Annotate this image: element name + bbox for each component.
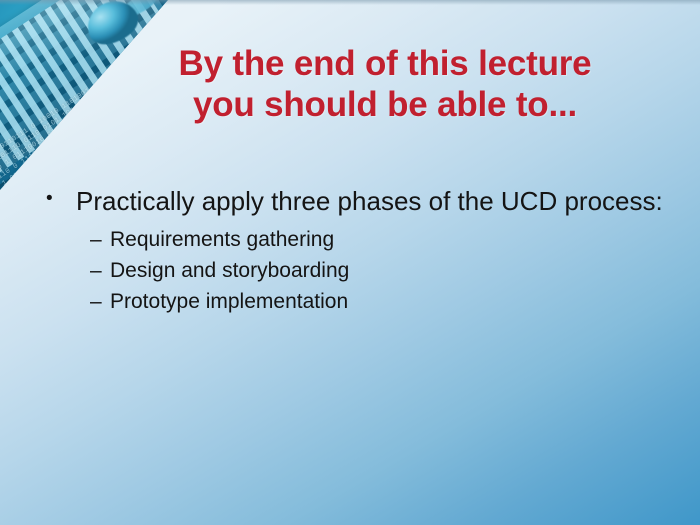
sub-bullet-text: Requirements gathering bbox=[110, 227, 672, 254]
sub-bullet-item: – Design and storyboarding bbox=[90, 258, 672, 285]
dash-marker-icon: – bbox=[90, 258, 110, 285]
slide-title-line-2: you should be able to... bbox=[96, 85, 674, 126]
slide-title-line-1: By the end of this lecture bbox=[96, 44, 674, 85]
slide-canvas: 01001101 0110111 0 10010 1101001 1010 01… bbox=[0, 0, 700, 525]
sub-bullet-item: – Prototype implementation bbox=[90, 289, 672, 316]
sub-bullet-list: – Requirements gathering – Design and st… bbox=[90, 227, 672, 316]
bullet-marker-icon: • bbox=[46, 186, 76, 213]
bullet-item: • Practically apply three phases of the … bbox=[46, 186, 672, 217]
bullet-text: Practically apply three phases of the UC… bbox=[76, 186, 672, 217]
sub-bullet-text: Design and storyboarding bbox=[110, 258, 672, 285]
sub-bullet-item: – Requirements gathering bbox=[90, 227, 672, 254]
dash-marker-icon: – bbox=[90, 289, 110, 316]
slide-body: • Practically apply three phases of the … bbox=[46, 186, 672, 320]
slide-title: By the end of this lecture you should be… bbox=[96, 44, 674, 125]
sub-bullet-text: Prototype implementation bbox=[110, 289, 672, 316]
dash-marker-icon: – bbox=[90, 227, 110, 254]
